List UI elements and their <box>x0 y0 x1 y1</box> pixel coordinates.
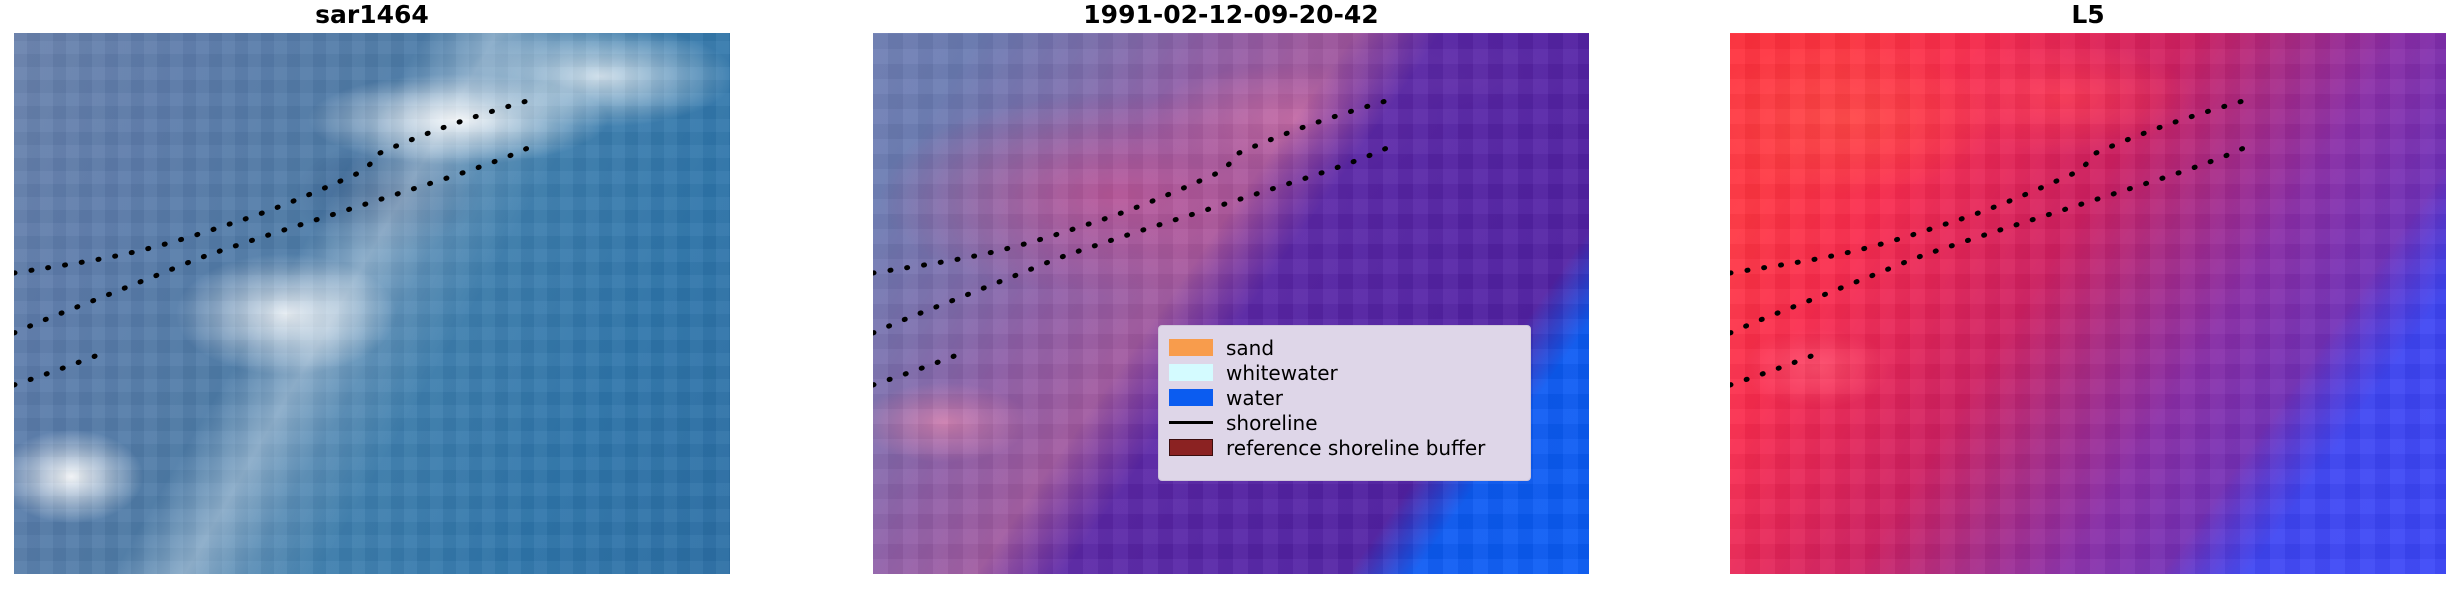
sand-swatch-icon <box>1169 339 1213 356</box>
legend-item-water: water <box>1169 385 1518 410</box>
shoreline-overlay-l5 <box>1730 33 2446 574</box>
panel-sar: sar1464 <box>14 0 730 574</box>
legend-item-whitewater: whitewater <box>1169 360 1518 385</box>
legend-label-sand: sand <box>1226 336 1274 360</box>
legend-item-reference-shoreline-buffer: reference shoreline buffer <box>1169 435 1518 460</box>
legend-label-water: water <box>1226 386 1283 410</box>
panel-title-l5: L5 <box>1730 0 2446 30</box>
panel-l5: L5 <box>1730 0 2446 574</box>
legend-item-sand: sand <box>1169 335 1518 360</box>
shoreline-overlay-sar <box>14 33 730 574</box>
axes-l5[interactable] <box>1730 33 2446 574</box>
water-swatch-icon <box>1169 389 1213 406</box>
legend-item-shoreline: shoreline <box>1169 410 1518 435</box>
figure-canvas: sar1464 1991-02-12-09-20-42 <box>0 0 2460 604</box>
legend-label-shoreline: shoreline <box>1226 411 1318 435</box>
legend: sand whitewater water shoreline referenc… <box>1158 325 1531 481</box>
legend-label-reference-shoreline-buffer: reference shoreline buffer <box>1226 436 1485 460</box>
panel-title-sar: sar1464 <box>14 0 730 30</box>
legend-label-whitewater: whitewater <box>1226 361 1338 385</box>
reference-buffer-swatch-icon <box>1169 439 1213 456</box>
axes-sar[interactable] <box>14 33 730 574</box>
shoreline-line-icon <box>1169 414 1213 431</box>
shoreline-overlay-classification <box>873 33 1589 574</box>
panel-title-classification: 1991-02-12-09-20-42 <box>873 0 1589 30</box>
whitewater-swatch-icon <box>1169 364 1213 381</box>
panel-classification: 1991-02-12-09-20-42 <box>873 0 1589 574</box>
axes-classification[interactable] <box>873 33 1589 574</box>
